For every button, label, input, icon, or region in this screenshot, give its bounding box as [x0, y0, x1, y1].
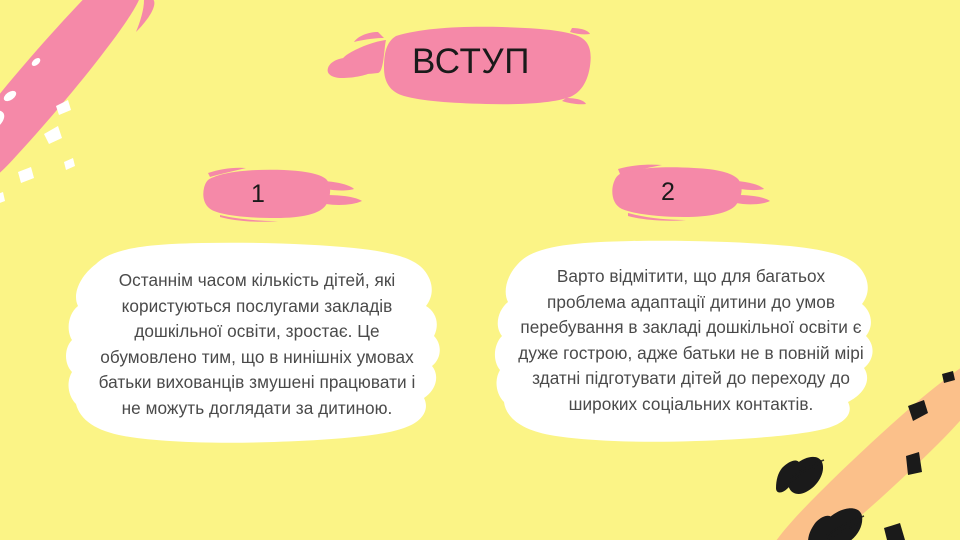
item-2-number-badge: 2	[608, 163, 778, 221]
item-1-number-badge: 1	[198, 165, 368, 223]
top-left-pink-brush-stroke-icon	[0, 0, 184, 226]
page-title: ВСТУП	[326, 18, 594, 106]
slide-canvas: ВСТУП 1 2	[0, 0, 960, 540]
item-2-body-text: Варто відмітити, що для багатьох проблем…	[516, 264, 866, 417]
item-2-number: 2	[608, 163, 728, 221]
item-1-body-text: Останнім часом кількість дітей, які кори…	[98, 268, 416, 421]
item-2-text-card: Варто відмітити, що для багатьох проблем…	[492, 238, 890, 450]
slide-title-group: ВСТУП	[326, 18, 594, 106]
item-1-number: 1	[198, 165, 318, 223]
item-1-text-card: Останнім часом кількість дітей, які кори…	[62, 240, 452, 452]
